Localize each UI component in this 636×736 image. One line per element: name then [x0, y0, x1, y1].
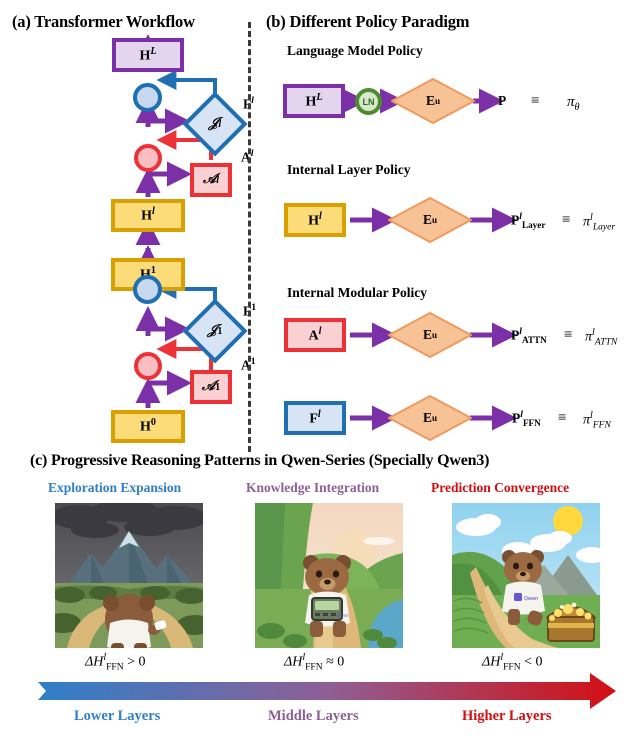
stage-0-name: Exploration Expansion — [48, 480, 181, 496]
gradient-progress-arrow — [38, 673, 616, 709]
policy-row-2-unembed: Eu — [388, 312, 472, 358]
stage-2-layer-label: Higher Layers — [462, 708, 552, 725]
panel-b-title: (b) Different Policy Paradigm — [266, 12, 469, 32]
policy-row-0-output: P — [498, 93, 506, 109]
policy-row-3-unembed: Eu — [388, 395, 472, 441]
node-h-L: HL — [112, 38, 184, 72]
residual-add-circle-lower — [134, 144, 162, 172]
policy-row-0-policy: πθ — [567, 94, 580, 113]
svg-text:Qwen: Qwen — [337, 613, 349, 618]
stage-1-illustration: Qwen — [255, 503, 403, 648]
policy-row-0-unembed: Eu — [391, 78, 475, 124]
policy-row-0-heading: Language Model Policy — [287, 43, 423, 59]
residual-add-circle-upper — [133, 83, 162, 112]
node-h-L-label: HL — [139, 46, 156, 65]
figure-root: (a) Transformer Workflow HL 𝒥l Fl 𝒜l Al … — [0, 0, 636, 736]
stage-2-illustration: Qwen — [452, 503, 600, 648]
stage-1-delta: ΔHlFFN ≈ 0 — [284, 652, 344, 672]
panel-c-title: (c) Progressive Reasoning Patterns in Qw… — [30, 452, 489, 470]
policy-row-1-heading: Internal Layer Policy — [287, 162, 410, 178]
policy-row-1-policy: πlLayer — [583, 212, 615, 232]
policy-row-2-policy: πlATTN — [585, 327, 617, 347]
policy-row-1-input: Hl — [284, 203, 346, 237]
panel-a-title: (a) Transformer Workflow — [12, 12, 195, 32]
stage-2-delta: ΔHlFFN < 0 — [482, 652, 543, 672]
policy-row-1-unembed: Eu — [388, 197, 472, 243]
node-attn-1: 𝒜1 — [190, 370, 232, 404]
policy-row-3-equiv: ≡ — [558, 410, 566, 427]
policy-row-2-heading: Internal Modular Policy — [287, 285, 427, 301]
stage-1-layer-label: Middle Layers — [268, 708, 359, 725]
stage-0-layer-label: Lower Layers — [74, 708, 160, 725]
panel-divider — [248, 22, 251, 452]
policy-row-0-equiv: ≡ — [531, 93, 539, 110]
node-ffn-1: 𝒥1 — [192, 308, 238, 354]
policy-row-0-input: HL — [283, 84, 345, 118]
policy-row-3-output: PlFFN — [512, 409, 541, 428]
stage-0-illustration — [55, 503, 203, 648]
policy-row-1-equiv: ≡ — [562, 212, 570, 229]
node-h-l: Hl — [111, 199, 185, 232]
policy-row-1-output: PlLayer — [511, 211, 545, 230]
node-attn-l: 𝒜l — [190, 163, 232, 197]
policy-row-3-input: Fl — [284, 401, 346, 435]
layernorm-node: LN — [355, 88, 382, 115]
policy-row-2-output: PlATTN — [511, 326, 547, 345]
svg-text:Qwen: Qwen — [524, 596, 538, 602]
policy-row-2-equiv: ≡ — [564, 327, 572, 344]
residual-add-circle-upper-1 — [133, 275, 162, 304]
policy-row-2-input: Al — [284, 318, 346, 352]
stage-2-name: Prediction Convergence — [431, 480, 569, 496]
node-h-0: H0 — [111, 410, 185, 443]
stage-0-delta: ΔHlFFN > 0 — [85, 652, 146, 672]
stage-1-name: Knowledge Integration — [246, 480, 379, 496]
node-ffn-l: 𝒥l — [192, 101, 238, 147]
layernorm-label: LN — [363, 97, 375, 107]
policy-row-3-policy: πlFFN — [583, 410, 611, 430]
residual-add-circle-lower-1 — [134, 352, 162, 380]
